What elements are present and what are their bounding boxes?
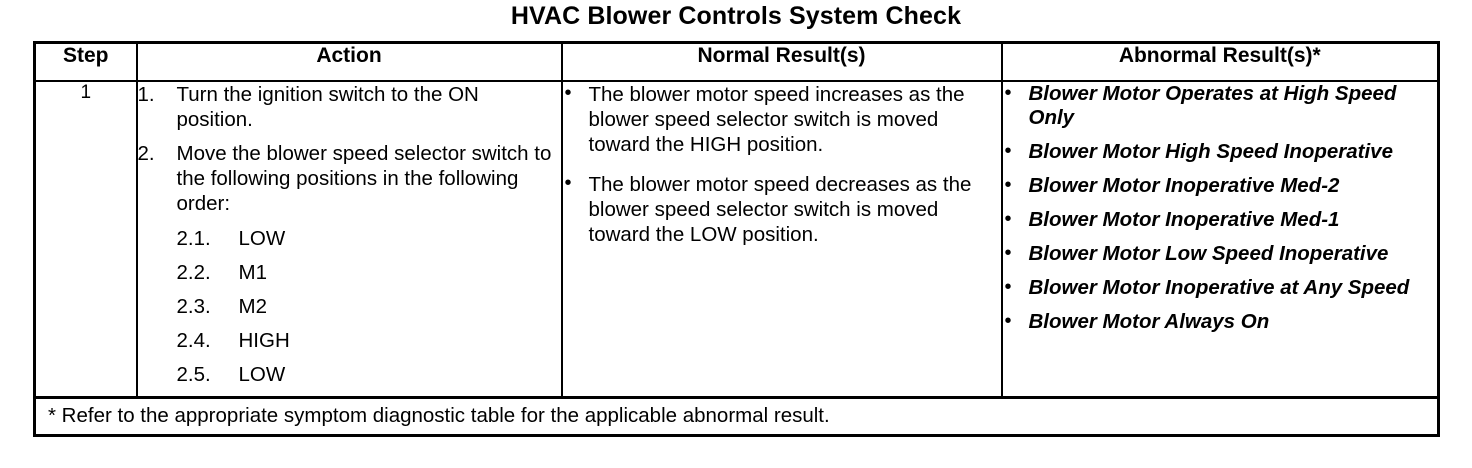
document-page: HVAC Blower Controls System Check Step A… (0, 0, 1472, 468)
action-sub-item: 2.5. LOW (177, 362, 561, 387)
abnormal-result-text: Blower Motor Low Speed Inoperative (1029, 242, 1389, 265)
normal-result-text: The blower motor speed decreases as the … (589, 173, 972, 246)
action-sub-item-number: 2.2. (177, 260, 233, 285)
abnormal-result-item: • Blower Motor Low Speed Inoperative (1003, 242, 1438, 266)
step-number-cell: 1 (35, 81, 137, 398)
bullet-icon: • (565, 81, 572, 106)
abnormal-result-item: • Blower Motor Inoperative Med-1 (1003, 208, 1438, 232)
system-check-table-wrapper: Step Action Normal Result(s) Abnormal Re… (33, 41, 1437, 437)
action-sub-item: 2.2. M1 (177, 260, 561, 285)
table-body: 1 1. Turn the ignition switch to the ON … (35, 81, 1439, 436)
abnormal-result-text: Blower Motor Inoperative Med-1 (1029, 208, 1340, 231)
action-sub-item-number: 2.5. (177, 362, 233, 387)
action-sub-item-number: 2.1. (177, 226, 233, 251)
abnormal-result-text: Blower Motor Inoperative at Any Speed (1029, 276, 1410, 299)
action-sub-item-text: LOW (239, 363, 286, 386)
page-title: HVAC Blower Controls System Check (0, 2, 1472, 31)
action-item: 1. Turn the ignition switch to the ON po… (138, 82, 561, 132)
action-sub-item: 2.3. M2 (177, 294, 561, 319)
action-sub-item-text: HIGH (239, 329, 290, 352)
normal-result-cell: • The blower motor speed increases as th… (562, 81, 1002, 398)
action-item-text: Move the blower speed selector switch to… (177, 142, 552, 215)
action-sub-item-number: 2.4. (177, 328, 233, 353)
normal-result-text: The blower motor speed increases as the … (589, 83, 965, 156)
column-header-step: Step (35, 43, 137, 82)
action-sub-item-number: 2.3. (177, 294, 233, 319)
footnote-text: * Refer to the appropriate symptom diagn… (35, 398, 1439, 436)
column-header-abnormal-result: Abnormal Result(s)* (1002, 43, 1439, 82)
abnormal-result-item: • Blower Motor High Speed Inoperative (1003, 140, 1438, 164)
bullet-icon: • (565, 171, 572, 196)
table-header: Step Action Normal Result(s) Abnormal Re… (35, 43, 1439, 82)
action-sub-list: 2.1. LOW 2.2. M1 2.3. M2 (177, 226, 561, 387)
abnormal-result-text: Blower Motor Operates at High Speed Only (1029, 82, 1397, 129)
action-cell: 1. Turn the ignition switch to the ON po… (137, 81, 562, 398)
action-sub-item: 2.1. LOW (177, 226, 561, 251)
action-item-number: 1. (138, 82, 168, 107)
system-check-table: Step Action Normal Result(s) Abnormal Re… (33, 41, 1440, 437)
action-sub-item: 2.4. HIGH (177, 328, 561, 353)
table-header-row: Step Action Normal Result(s) Abnormal Re… (35, 43, 1439, 82)
bullet-icon: • (1005, 81, 1012, 106)
abnormal-result-item: • Blower Motor Always On (1003, 310, 1438, 334)
bullet-icon: • (1005, 139, 1012, 164)
action-item: 2. Move the blower speed selector switch… (138, 141, 561, 387)
action-sub-item-text: M2 (239, 295, 267, 318)
table-row: 1 1. Turn the ignition switch to the ON … (35, 81, 1439, 398)
normal-result-list: • The blower motor speed increases as th… (563, 82, 1001, 247)
abnormal-result-item: • Blower Motor Inoperative Med-2 (1003, 174, 1438, 198)
abnormal-result-list: • Blower Motor Operates at High Speed On… (1003, 82, 1438, 334)
action-sub-item-text: M1 (239, 261, 267, 284)
abnormal-result-item: • Blower Motor Inoperative at Any Speed (1003, 276, 1438, 300)
abnormal-result-text: Blower Motor Always On (1029, 310, 1270, 333)
abnormal-result-text: Blower Motor Inoperative Med-2 (1029, 174, 1340, 197)
bullet-icon: • (1005, 173, 1012, 198)
action-ordered-list: 1. Turn the ignition switch to the ON po… (138, 82, 561, 387)
column-header-action: Action (137, 43, 562, 82)
action-item-number: 2. (138, 141, 168, 166)
bullet-icon: • (1005, 207, 1012, 232)
bullet-icon: • (1005, 309, 1012, 334)
column-header-normal-result: Normal Result(s) (562, 43, 1002, 82)
bullet-icon: • (1005, 241, 1012, 266)
action-item-text: Turn the ignition switch to the ON posit… (177, 83, 479, 131)
bullet-icon: • (1005, 275, 1012, 300)
footnote-row: * Refer to the appropriate symptom diagn… (35, 398, 1439, 436)
abnormal-result-item: • Blower Motor Operates at High Speed On… (1003, 82, 1438, 130)
action-sub-item-text: LOW (239, 227, 286, 250)
normal-result-item: • The blower motor speed decreases as th… (563, 172, 1001, 247)
abnormal-result-cell: • Blower Motor Operates at High Speed On… (1002, 81, 1439, 398)
abnormal-result-text: Blower Motor High Speed Inoperative (1029, 140, 1394, 163)
normal-result-item: • The blower motor speed increases as th… (563, 82, 1001, 157)
